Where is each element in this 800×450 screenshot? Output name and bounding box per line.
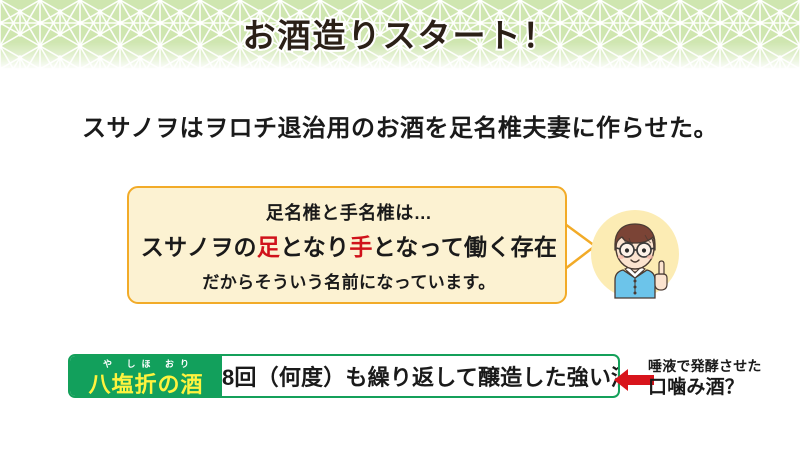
- bubble-line-2-part-3: となって働く存在: [373, 234, 558, 260]
- annotation-line-1: 唾液で発酵させた: [648, 357, 793, 376]
- lead-sentence: スサノヲはヲロチ退治用のお酒を足名椎夫妻に作らせた。: [0, 108, 800, 143]
- bubble-line-1: 足名椎と手名椎は…: [129, 199, 569, 225]
- avatar: [589, 208, 681, 300]
- header-band: お酒造りスタート！: [0, 0, 800, 70]
- side-annotation: 唾液で発酵させた 口噛み酒？: [648, 357, 793, 400]
- term-label-block: や しほ おり 八塩折の酒: [70, 356, 222, 396]
- page-title: お酒造りスタート！: [0, 9, 800, 57]
- bubble-highlight-ashi: 足: [257, 234, 280, 260]
- term-kanji: 八塩折の酒: [70, 367, 222, 398]
- bubble-line-2-part-2: となり: [280, 234, 349, 260]
- term-row: や しほ おり 八塩折の酒 8回（何度）も繰り返して醸造した強い酒: [68, 354, 620, 398]
- annotation-line-2: 口噛み酒？: [648, 376, 793, 400]
- bubble-highlight-te: 手: [349, 234, 372, 260]
- speech-bubble: 足名椎と手名椎は… スサノヲの足となり手となって働く存在 だからそういう名前にな…: [127, 186, 567, 304]
- bubble-line-3: だからそういう名前になっています。: [129, 268, 569, 293]
- bubble-line-2-part-1: スサノヲの: [141, 234, 257, 260]
- bubble-line-2: スサノヲの足となり手となって働く存在: [129, 228, 569, 262]
- term-description: 8回（何度）も繰り返して醸造した強い酒: [222, 356, 620, 396]
